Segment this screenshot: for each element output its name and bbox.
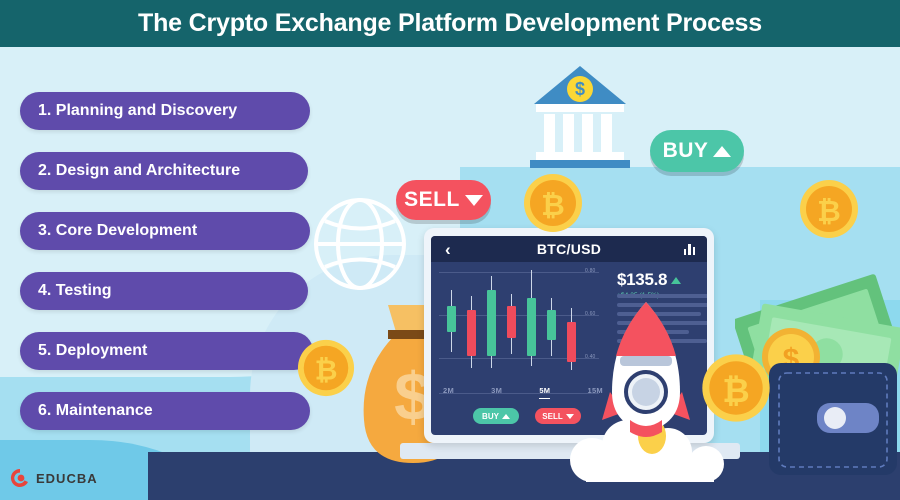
bitcoin-coin-icon: ₿ <box>296 338 356 398</box>
step-item-3[interactable]: 3. Core Development <box>20 212 310 250</box>
price-value: $135.8 <box>617 270 667 290</box>
educba-logo-icon <box>10 468 30 488</box>
process-step-list: 1. Planning and Discovery 2. Design and … <box>20 92 320 452</box>
page-title: The Crypto Exchange Platform Development… <box>138 9 762 38</box>
bar-chart-icon[interactable] <box>684 243 696 255</box>
app-topbar: ‹ BTC/USD <box>431 236 707 262</box>
svg-text:$: $ <box>575 79 585 99</box>
svg-text:₿: ₿ <box>817 196 841 228</box>
sell-badge[interactable]: SELL <box>396 180 491 220</box>
svg-text:₿: ₿ <box>541 190 565 222</box>
bitcoin-coin-icon: ₿ <box>700 352 772 424</box>
price-up-arrow-icon <box>671 277 681 284</box>
step-label: 1. Planning and Discovery <box>38 102 237 120</box>
step-label: 3. Core Development <box>38 222 197 240</box>
timeframe-3m[interactable]: 3M <box>491 386 502 399</box>
y-axis-label-1: 0.80 <box>585 268 596 274</box>
arrow-up-icon <box>502 414 510 419</box>
step-item-2[interactable]: 2. Design and Architecture <box>20 152 308 190</box>
educba-logo-text: EDUCBA <box>36 471 98 486</box>
svg-text:₿: ₿ <box>722 373 749 410</box>
sell-badge-label: SELL <box>404 188 460 212</box>
educba-logo: EDUCBA <box>10 468 98 488</box>
bank-icon: $ <box>530 62 630 170</box>
step-item-1[interactable]: 1. Planning and Discovery <box>20 92 310 130</box>
trading-pair-label: BTC/USD <box>431 241 707 257</box>
step-label: 4. Testing <box>38 282 112 300</box>
bitcoin-coin-icon: ₿ <box>522 172 584 234</box>
wallet-icon <box>765 355 900 480</box>
candlestick-chart: 0.80 0.60 0.40 <box>439 268 599 403</box>
buy-badge-label: BUY <box>663 139 709 163</box>
y-axis-label-3: 0.40 <box>585 354 596 360</box>
step-item-4[interactable]: 4. Testing <box>20 272 308 310</box>
y-axis-label-2: 0.60 <box>585 311 596 317</box>
rocket-icon <box>600 300 692 445</box>
step-item-6[interactable]: 6. Maintenance <box>20 392 310 430</box>
arrow-up-icon <box>713 146 731 157</box>
bitcoin-coin-icon: ₿ <box>798 178 860 240</box>
step-label: 6. Maintenance <box>38 402 153 420</box>
buy-button[interactable]: BUY <box>473 408 519 424</box>
infographic-canvas: The Crypto Exchange Platform Development… <box>0 0 900 500</box>
globe-icon <box>312 196 408 292</box>
step-item-5[interactable]: 5. Deployment <box>20 332 313 370</box>
timeframe-2m[interactable]: 2M <box>443 386 454 399</box>
header-bar: The Crypto Exchange Platform Development… <box>0 0 900 47</box>
buy-button-label: BUY <box>482 412 499 421</box>
buy-badge[interactable]: BUY <box>650 130 744 172</box>
step-label: 2. Design and Architecture <box>38 162 240 180</box>
timeframe-selector: 2M 3M 5M 15M <box>443 386 603 399</box>
step-label: 5. Deployment <box>38 342 147 360</box>
svg-text:₿: ₿ <box>315 355 338 386</box>
timeframe-5m[interactable]: 5M <box>539 386 550 399</box>
arrow-down-icon <box>465 195 483 206</box>
